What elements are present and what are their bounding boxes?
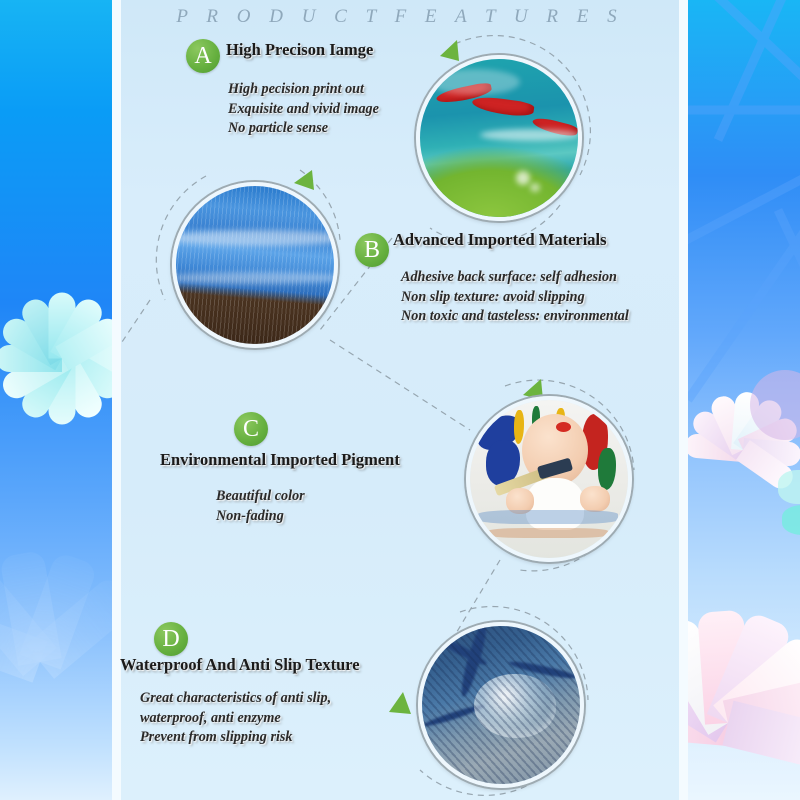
radiating-lines-decor — [688, 0, 800, 420]
feature-b-heading: Advanced Imported Materials — [393, 230, 607, 250]
feature-d-heading: Waterproof And Anti Slip Texture — [120, 655, 360, 675]
badge-a: A — [186, 39, 220, 73]
feature-a-heading: High Precison Iamge — [226, 40, 373, 60]
feature-a-line-1: High pecision print out — [228, 80, 379, 100]
feature-b-line-2: Non slip texture: avoid slipping — [401, 288, 629, 308]
badge-c: C — [234, 412, 268, 446]
feature-d-line-1: Great characteristics of anti slip, — [140, 689, 331, 709]
feature-b-line-3: Non toxic and tasteless: environmental — [401, 307, 629, 327]
page-title: P R O D U C T F E A T U R E S — [121, 6, 679, 28]
infographic-canvas: P R O D U C T F E A T U R E S — [0, 0, 800, 800]
feature-a-body: High pecision print out Exquisite and vi… — [228, 80, 379, 139]
feature-b-body: Adhesive back surface: self adhesion Non… — [401, 268, 629, 327]
decor-blob-3 — [782, 505, 800, 535]
decor-blob-2 — [778, 470, 800, 504]
feature-c-heading: Environmental Imported Pigment — [160, 450, 400, 470]
feature-c-body: Beautiful color Non-fading — [216, 487, 305, 526]
feature-a-line-2: Exquisite and vivid image — [228, 100, 379, 120]
feature-d-line-2: waterproof, anti enzyme — [140, 709, 331, 729]
feature-a-line-3: No particle sense — [228, 119, 379, 139]
feature-b-line-1: Adhesive back surface: self adhesion — [401, 268, 629, 288]
border-gap-right — [679, 0, 688, 800]
feature-c-line-2: Non-fading — [216, 507, 305, 527]
border-gap-left — [112, 0, 121, 800]
water-droplet-photo — [418, 622, 584, 788]
feature-d-body: Great characteristics of anti slip, wate… — [140, 689, 331, 748]
feature-d-line-3: Prevent from slipping risk — [140, 728, 331, 748]
blue-fabric-photo — [172, 182, 338, 348]
koi-pond-photo — [416, 55, 582, 221]
badge-d: D — [154, 622, 188, 656]
feature-c-line-1: Beautiful color — [216, 487, 305, 507]
blue-flower-border-right — [688, 0, 800, 800]
blue-flower-border-left — [0, 0, 112, 800]
baby-painting-photo — [466, 396, 632, 562]
badge-b: B — [355, 233, 389, 267]
